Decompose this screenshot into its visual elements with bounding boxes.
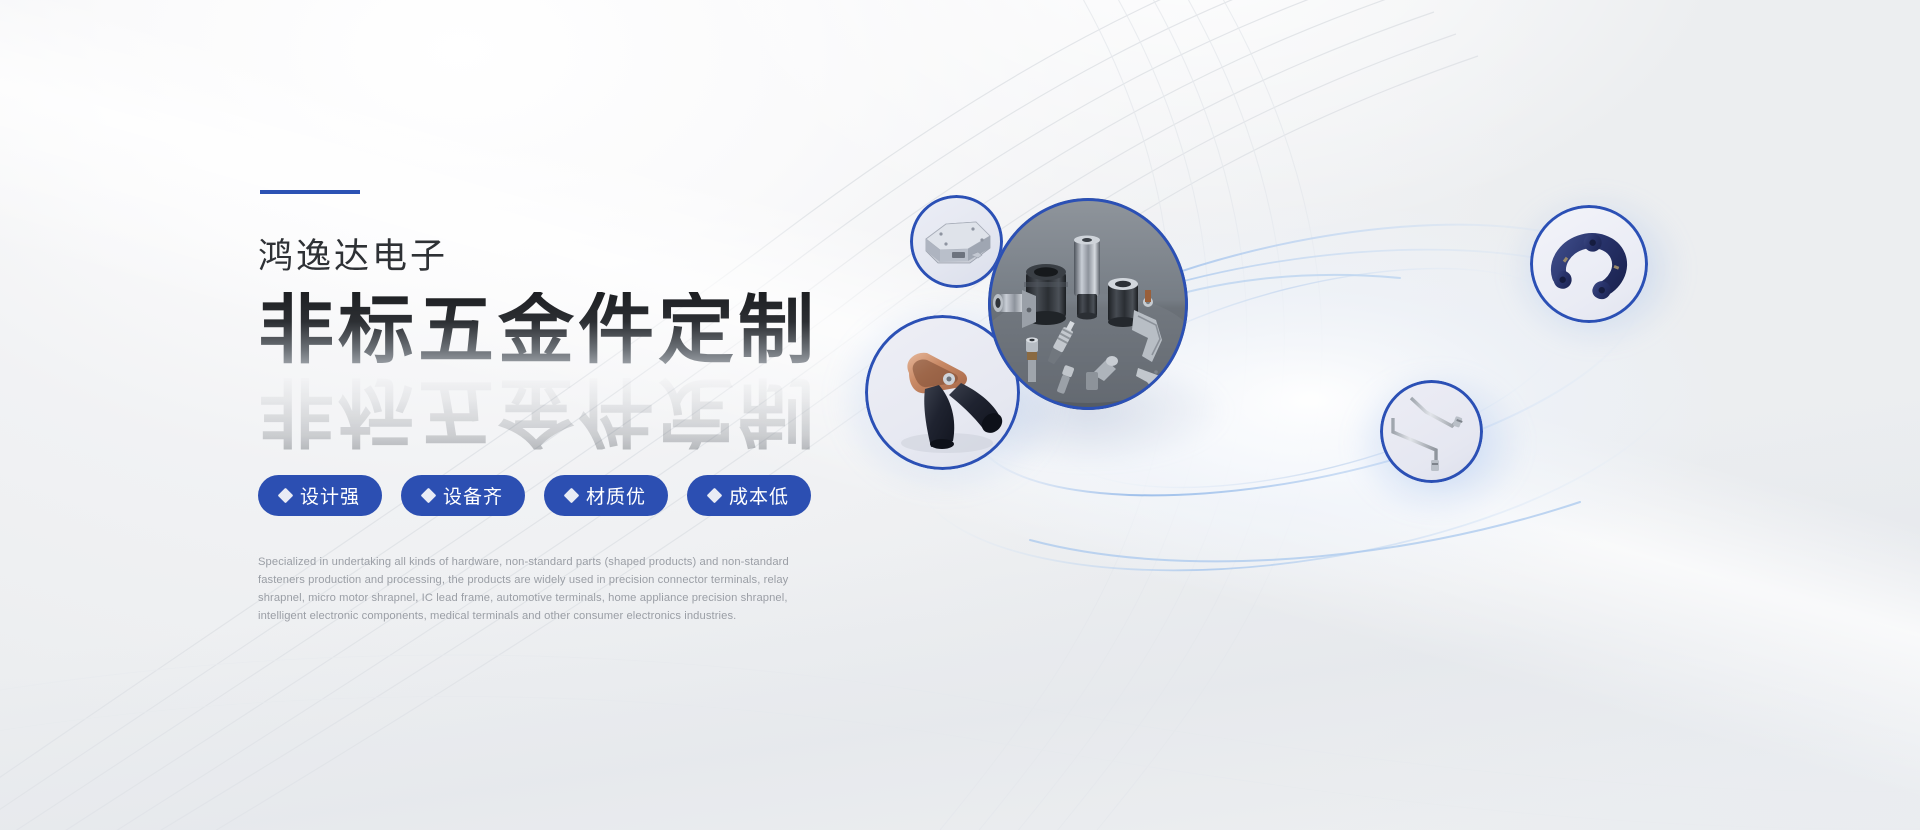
page-title: 非标五金件定制	[258, 292, 818, 370]
accent-rule	[260, 190, 360, 194]
description-paragraph: Specialized in undertaking all kinds of …	[258, 553, 823, 626]
feature-tag-label: 成本低	[729, 482, 789, 509]
hero-banner: 鸿逸达电子 非标五金件定制 非标五金件定制 设计强 设备齐 材质优 成本低	[0, 0, 1920, 830]
bubble-bent-terminal-pins[interactable]	[1380, 380, 1483, 483]
feature-tag-label: 设备齐	[443, 482, 503, 509]
hardware-parts-image	[988, 198, 1188, 410]
feature-tag-design[interactable]: 设计强	[258, 475, 382, 516]
feature-tag-material[interactable]: 材质优	[544, 475, 668, 516]
bubble-navy-retaining-clip[interactable]	[1530, 205, 1648, 323]
brand-name: 鸿逸达电子	[258, 228, 448, 279]
feature-tag-list: 设计强 设备齐 材质优 成本低	[258, 475, 811, 516]
diamond-icon	[278, 488, 294, 504]
product-showcase	[880, 110, 1780, 670]
feature-tag-label: 设计强	[300, 482, 360, 509]
headline-reflection: 非标五金件定制	[258, 372, 818, 450]
bubble-hardware-parts-assortment[interactable]	[988, 198, 1188, 410]
navy-retaining-clip-image	[1530, 205, 1648, 323]
bent-terminal-pins-image	[1380, 380, 1483, 483]
feature-tag-cost[interactable]: 成本低	[687, 475, 811, 516]
feature-tag-equipment[interactable]: 设备齐	[401, 475, 525, 516]
feature-tag-label: 材质优	[586, 482, 646, 509]
diamond-icon	[564, 488, 580, 504]
diamond-icon	[707, 488, 723, 504]
headline-group: 非标五金件定制 非标五金件定制	[258, 292, 818, 370]
diamond-icon	[421, 488, 437, 504]
